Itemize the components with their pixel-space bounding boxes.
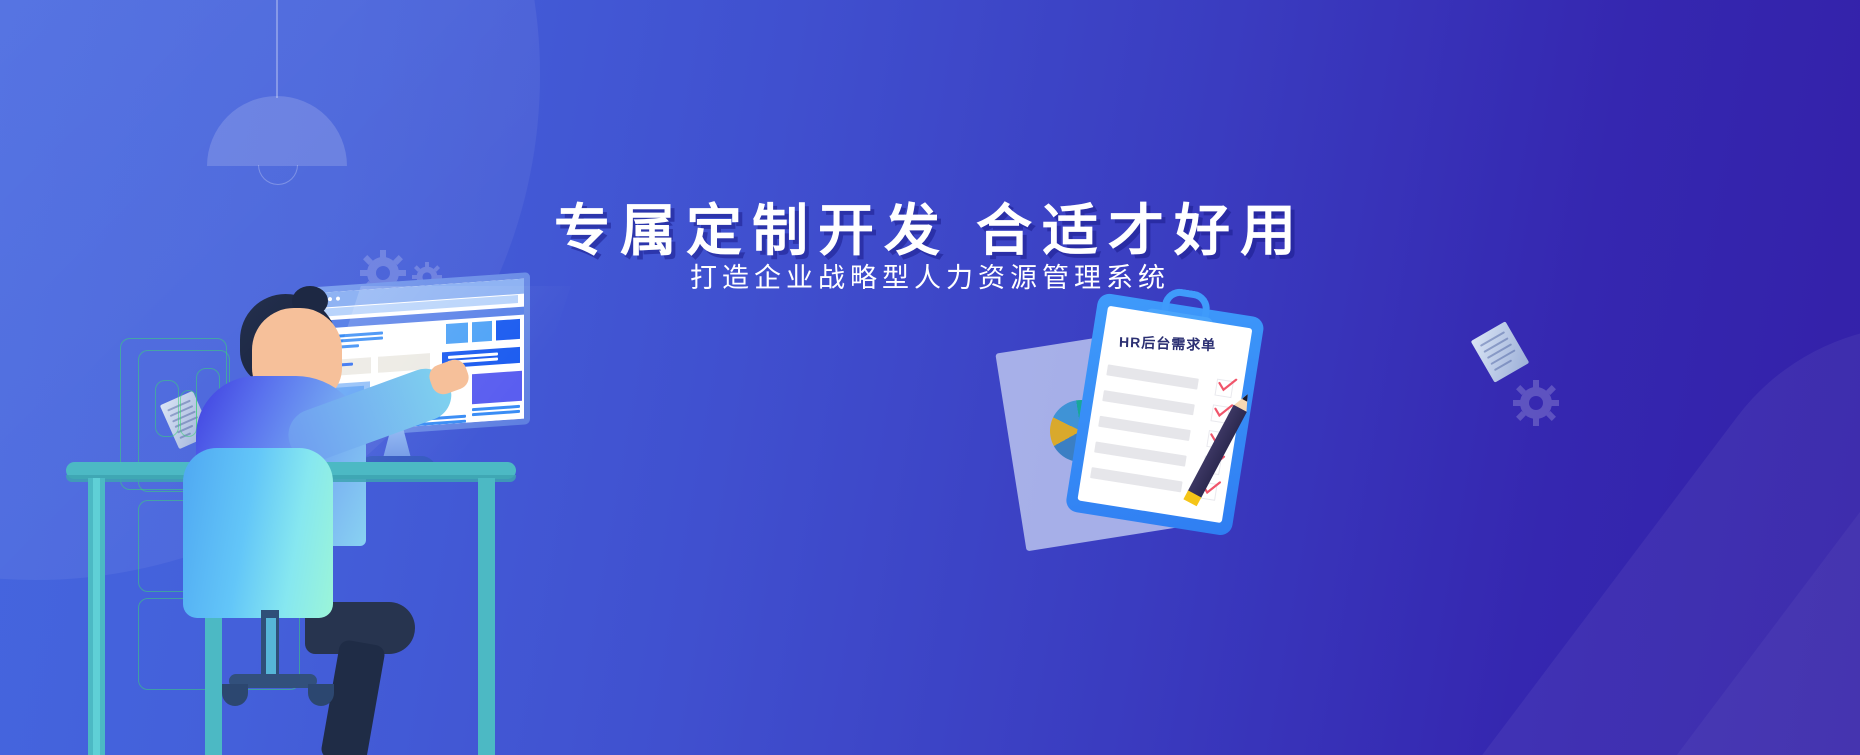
- person-at-desk-illustration: [0, 250, 620, 755]
- clipboard-title: HR后台需求单: [1119, 332, 1217, 355]
- desk-leg: [478, 478, 495, 755]
- checklist-row-bar: [1106, 364, 1199, 389]
- mockup-tile: [446, 323, 468, 345]
- headline-part-2: 合适才好用: [976, 199, 1306, 262]
- office-chair-back: [183, 448, 333, 618]
- mockup-tile: [472, 321, 492, 342]
- desk-leg-highlight: [93, 478, 100, 755]
- gear-icon: [1513, 380, 1559, 426]
- lamp-cord-icon: [276, 0, 278, 98]
- checklist-row-bar: [1094, 441, 1187, 466]
- checklist-row-bar: [1098, 416, 1191, 441]
- office-chair-stem-highlight: [266, 618, 276, 680]
- lamp-glow-icon: [258, 165, 298, 185]
- clipboard-page: HR后台需求单: [1077, 306, 1252, 523]
- document-icon: [1471, 321, 1530, 383]
- hr-requirements-clipboard-illustration: HR后台需求单: [1010, 280, 1340, 610]
- checklist-row-bar: [1090, 467, 1183, 492]
- mockup-tile: [496, 319, 520, 341]
- hanging-lamp-icon: [207, 96, 347, 166]
- mockup-image-block: [472, 371, 522, 404]
- office-chair-wheel: [222, 684, 248, 706]
- clipboard-icon: HR后台需求单: [1065, 278, 1268, 536]
- check-icon: [1216, 376, 1238, 395]
- checklist-row-bar: [1102, 390, 1195, 415]
- wireframe-box: [155, 380, 179, 437]
- wireframe-box: [180, 390, 197, 437]
- hero-banner: 专属定制开发合适才好用 打造企业战略型人力资源管理系统: [0, 0, 1860, 755]
